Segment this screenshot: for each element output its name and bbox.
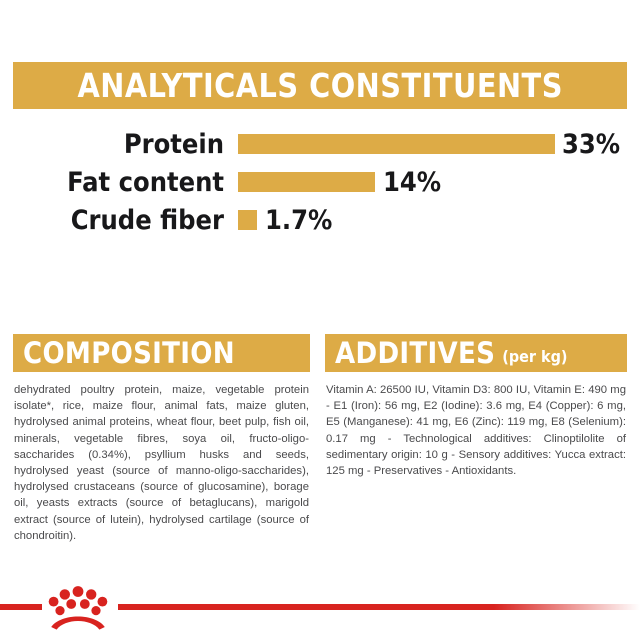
analyticals-constituents-title: ANALYTICALS CONSTITUENTS — [77, 69, 562, 102]
chart-value-crude-fiber: 1.7% — [265, 207, 332, 234]
chart-bar-crude-fiber — [238, 210, 257, 230]
additives-title: ADDITIVES — [335, 339, 495, 368]
chart-row-protein: Protein 33% — [0, 125, 640, 163]
chart-value-fat-content: 14% — [383, 169, 441, 196]
chart-row-crude-fiber: Crude fiber 1.7% — [0, 201, 640, 239]
additives-panel: ADDITIVES (per kg) Vitamin A: 26500 IU, … — [325, 334, 627, 544]
additives-body-text: Vitamin A: 26500 IU, Vitamin D3: 800 IU,… — [325, 382, 627, 479]
chart-label-crude-fiber: Crude fiber — [0, 207, 224, 234]
nutrient-bar-chart: Protein 33% Fat content 14% Crude fiber … — [0, 125, 640, 239]
royal-canin-crown-icon — [45, 582, 111, 634]
chart-label-protein: Protein — [0, 131, 224, 158]
chart-row-fat-content: Fat content 14% — [0, 163, 640, 201]
chart-value-protein: 33% — [562, 131, 620, 158]
composition-title: COMPOSITION — [23, 339, 235, 368]
composition-body-text: dehydrated poultry protein, maize, veget… — [13, 382, 310, 544]
chart-label-fat-content: Fat content — [0, 169, 224, 196]
info-panels: COMPOSITION dehydrated poultry protein, … — [0, 334, 640, 544]
footer-rule-right — [118, 604, 640, 610]
footer-rule-left — [0, 604, 42, 610]
additives-subtitle: (per kg) — [502, 349, 567, 365]
footer — [0, 580, 640, 640]
analyticals-constituents-banner: ANALYTICALS CONSTITUENTS — [13, 62, 627, 109]
chart-bar-fat-content — [238, 172, 375, 192]
additives-header: ADDITIVES (per kg) — [325, 334, 627, 372]
chart-bar-protein — [238, 134, 555, 154]
composition-panel: COMPOSITION dehydrated poultry protein, … — [13, 334, 310, 544]
composition-header: COMPOSITION — [13, 334, 310, 372]
